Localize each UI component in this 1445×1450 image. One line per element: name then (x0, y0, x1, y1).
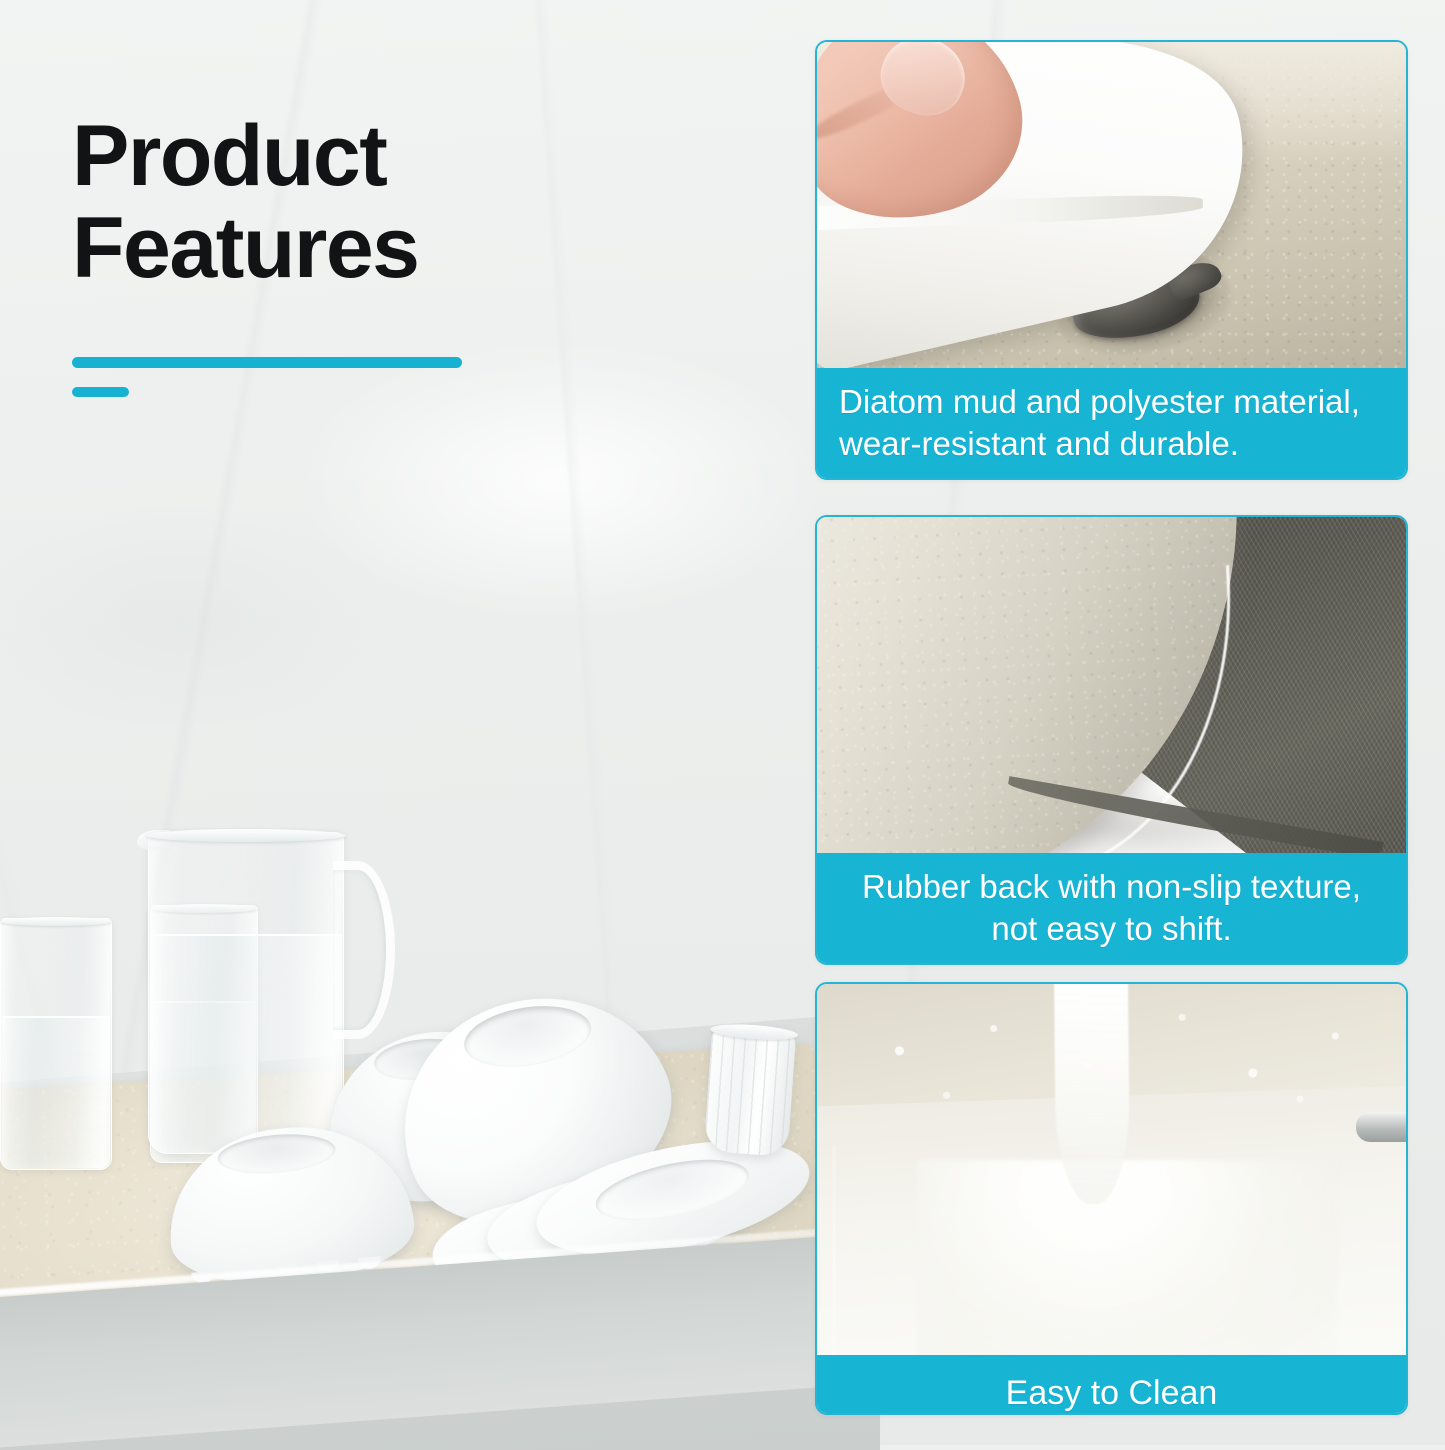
infographic-canvas: Product Features Diatom mud and polyeste… (0, 0, 1445, 1445)
pitcher-rim (146, 829, 346, 842)
feature-caption-durability: Diatom mud and polyester material, wear-… (817, 368, 1406, 480)
pitcher-water (150, 934, 342, 1152)
ramekin-flutes (704, 1025, 797, 1157)
feature-card-durability: Diatom mud and polyester material, wear-… (815, 40, 1408, 480)
glass-water (2, 1016, 110, 1168)
glass-rim (0, 917, 112, 926)
page-title-line-2: Features (72, 202, 419, 294)
feature-photo-easy-clean (817, 984, 1406, 1355)
feature-card-easy-clean: Easy to Clean (815, 982, 1408, 1415)
faucet-spout (1356, 1112, 1406, 1142)
caption-line: not easy to shift. (839, 908, 1384, 950)
feature-card-non-slip: Rubber back with non-slip texture, not e… (815, 515, 1408, 965)
feature-caption-non-slip: Rubber back with non-slip texture, not e… (817, 853, 1406, 965)
feature-photo-non-slip (817, 517, 1406, 853)
fluted-ramekin (704, 1025, 797, 1157)
water-glass (0, 918, 112, 1170)
caption-line: Easy to Clean (839, 1372, 1384, 1415)
water-stream (1054, 984, 1130, 1205)
page-title-line-1: Product (72, 110, 419, 202)
page-title: Product Features (72, 110, 419, 294)
fingernail (871, 42, 976, 126)
water-spray (833, 1146, 1013, 1355)
title-underline-short (72, 387, 129, 397)
feature-photo-durability (817, 42, 1406, 368)
caption-line: wear-resistant and durable. (839, 423, 1384, 465)
caption-line: Diatom mud and polyester material, (839, 381, 1384, 423)
title-underline-long (72, 357, 462, 368)
glass-pitcher (148, 832, 344, 1154)
caption-line: Rubber back with non-slip texture, (839, 866, 1384, 908)
feature-caption-easy-clean: Easy to Clean (817, 1355, 1406, 1415)
